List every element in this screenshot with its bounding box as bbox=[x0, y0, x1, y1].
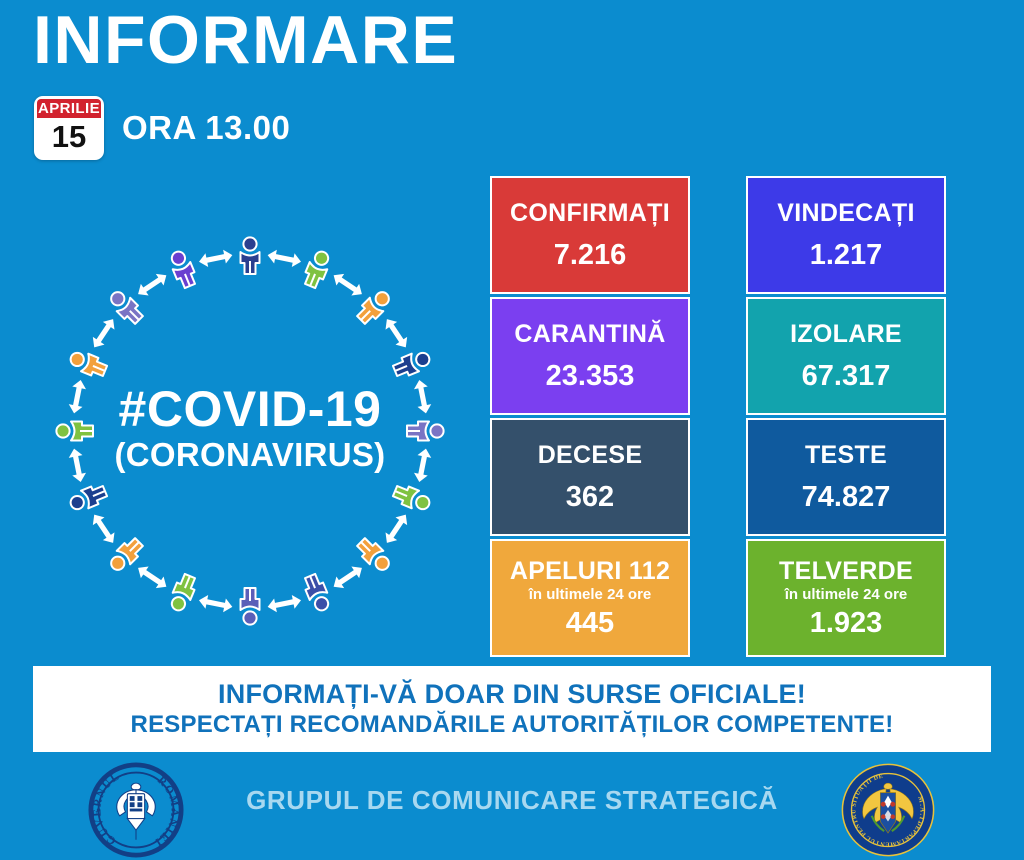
double-arrow-icon bbox=[266, 593, 302, 613]
double-arrow-icon bbox=[134, 562, 170, 593]
official-sources-notice: INFORMAȚI-VĂ DOAR DIN SURSE OFICIALE! RE… bbox=[33, 666, 991, 752]
stat-label: VINDECAȚI bbox=[777, 200, 914, 228]
double-arrow-icon bbox=[198, 593, 234, 613]
double-arrow-icon bbox=[134, 269, 170, 300]
double-arrow-icon bbox=[88, 511, 119, 547]
stat-box-decese: DECESE362 bbox=[490, 418, 690, 536]
double-arrow-icon bbox=[381, 511, 412, 547]
person-icon bbox=[56, 422, 93, 441]
people-ring-svg bbox=[28, 205, 472, 655]
stat-label: TESTE bbox=[805, 442, 887, 470]
stat-label: DECESE bbox=[538, 442, 643, 470]
double-arrow-icon bbox=[198, 248, 234, 268]
stat-label: APELURI 112 bbox=[510, 558, 670, 586]
time-label: ORA 13.00 bbox=[122, 109, 290, 147]
person-icon bbox=[68, 482, 109, 514]
person-icon bbox=[68, 348, 109, 380]
guvernul-romaniei-seal-icon: GUVERNUL ROMÂNIEI bbox=[88, 762, 184, 858]
person-icon bbox=[391, 482, 432, 514]
date-time-bar: APRILIE 15 ORA 13.00 bbox=[34, 96, 290, 160]
stat-value: 1.217 bbox=[810, 241, 883, 270]
double-arrow-icon bbox=[330, 269, 366, 300]
double-arrow-icon bbox=[381, 315, 412, 351]
stat-label: CONFIRMAȚI bbox=[510, 200, 670, 228]
stat-value: 23.353 bbox=[546, 362, 635, 391]
stat-value: 1.923 bbox=[810, 609, 883, 638]
stat-box-apeluri-112: APELURI 112în ultimele 24 ore445 bbox=[490, 539, 690, 657]
stat-box-izolare: IZOLARE67.317 bbox=[746, 297, 946, 415]
calendar-day-label: 15 bbox=[37, 118, 101, 157]
person-icon bbox=[407, 422, 444, 441]
double-arrow-icon bbox=[330, 562, 366, 593]
stat-value: 362 bbox=[566, 483, 614, 512]
stat-label: TELVERDE bbox=[779, 558, 913, 586]
calendar-month-label: APRILIE bbox=[37, 99, 101, 118]
stat-box-vindeca-i: VINDECAȚI1.217 bbox=[746, 176, 946, 294]
double-arrow-icon bbox=[412, 379, 432, 415]
stat-value: 74.827 bbox=[802, 483, 891, 512]
infographic-canvas: INFORMARE APRILIE 15 ORA 13.00 #COVID-19… bbox=[0, 0, 1024, 860]
stat-value: 445 bbox=[566, 609, 614, 638]
stat-sublabel: în ultimele 24 ore bbox=[785, 587, 908, 604]
notice-line-1: INFORMAȚI-VĂ DOAR DIN SURSE OFICIALE! bbox=[218, 679, 806, 711]
person-icon bbox=[167, 249, 199, 290]
person-icon bbox=[391, 348, 432, 380]
person-icon bbox=[167, 572, 199, 613]
covid-circle-graphic: #COVID-19 (CORONAVIRUS) bbox=[28, 205, 472, 655]
person-icon bbox=[301, 572, 333, 613]
calendar-icon: APRILIE 15 bbox=[34, 96, 104, 160]
double-arrow-icon bbox=[88, 315, 119, 351]
double-arrow-icon bbox=[67, 447, 87, 483]
stat-value: 7.216 bbox=[554, 241, 627, 270]
notice-line-2: RESPECTAȚI RECOMANDĂRILE AUTORITĂȚILOR C… bbox=[131, 711, 894, 739]
page-title: INFORMARE bbox=[33, 6, 458, 74]
stat-label: CARANTINĂ bbox=[514, 321, 665, 349]
person-icon bbox=[301, 249, 333, 290]
stat-label: IZOLARE bbox=[790, 321, 902, 349]
stat-box-teste: TESTE74.827 bbox=[746, 418, 946, 536]
person-icon bbox=[241, 237, 260, 274]
double-arrow-icon bbox=[266, 248, 302, 268]
stat-box-telverde: TELVERDEîn ultimele 24 ore1.923 bbox=[746, 539, 946, 657]
stat-value: 67.317 bbox=[802, 362, 891, 391]
departamentul-situatii-urgenta-seal-icon: DEPARTAMENTUL PENTRU SITUAȚII DE URGENȚĂ… bbox=[840, 762, 936, 858]
stat-box-confirma-i: CONFIRMAȚI7.216 bbox=[490, 176, 690, 294]
double-arrow-icon bbox=[67, 379, 87, 415]
double-arrow-icon bbox=[412, 447, 432, 483]
stat-sublabel: în ultimele 24 ore bbox=[529, 587, 652, 604]
stat-box-carantin: CARANTINĂ23.353 bbox=[490, 297, 690, 415]
person-icon bbox=[241, 588, 260, 625]
